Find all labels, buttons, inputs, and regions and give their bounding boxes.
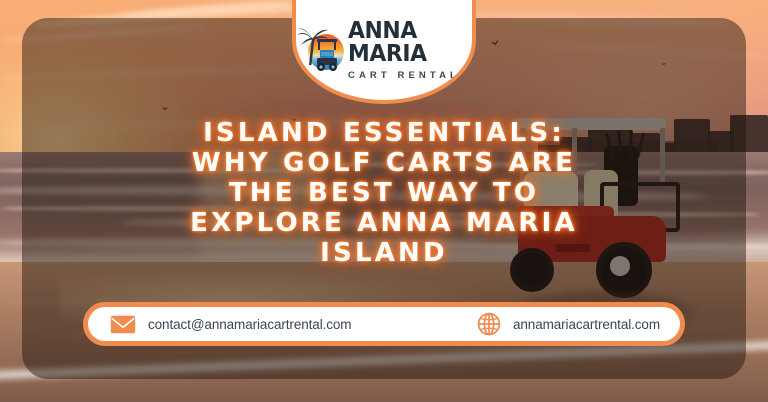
brand-name: ANNA MARIA [348,20,466,66]
contact-email-group[interactable]: contact@annamariacartrental.com [110,315,351,334]
headline-line-5: ISLAND [18,238,750,268]
brand-tagline: CART RENTAL [348,71,460,81]
envelope-icon [110,315,136,334]
headline-line-4: EXPLORE ANNA MARIA [18,208,750,238]
headline-line-2: WHY GOLF CARTS ARE [18,148,750,178]
contact-bar: contact@annamariacartrental.com annamari… [83,302,685,346]
headline: ISLAND ESSENTIALS: WHY GOLF CARTS ARE TH… [0,118,768,268]
golf-cart-icon [314,38,340,72]
logo-mark [296,26,346,74]
promo-banner: ⌄ ⌄ ⌄ ⌄ [0,0,768,402]
email-text: contact@annamariacartrental.com [148,317,351,332]
contact-website-group[interactable]: annamariacartrental.com [477,312,660,336]
website-text: annamariacartrental.com [513,317,660,332]
globe-icon [477,312,501,336]
headline-line-1: ISLAND ESSENTIALS: [18,118,750,148]
headline-line-3: THE BEST WAY TO [18,178,750,208]
